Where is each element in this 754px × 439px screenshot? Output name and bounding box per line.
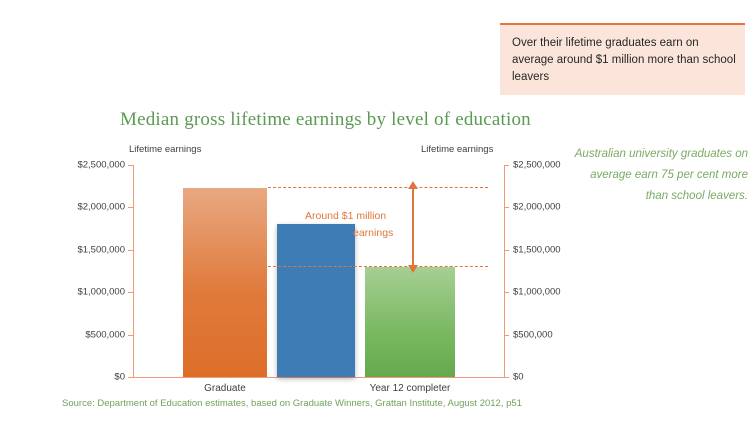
y-axis-label-right: $2,000,000 [513, 202, 561, 213]
right-axis-header: Lifetime earnings [421, 144, 493, 155]
y-axis-label-left: $2,000,000 [77, 202, 125, 213]
chart-plot-area: $0$0$500,000$500,000$1,000,000$1,000,000… [133, 165, 505, 378]
y-axis-label-right: $0 [513, 372, 524, 383]
y-axis-label-left: $500,000 [85, 329, 125, 340]
gap-dashed-line-top [268, 187, 488, 188]
source-note: Source: Department of Education estimate… [62, 398, 522, 409]
y-axis-label-left: $0 [114, 372, 125, 383]
x-label-graduate: Graduate [165, 383, 285, 394]
y-tick-l [128, 335, 133, 336]
bar-graduate [183, 188, 267, 377]
y-tick-r [504, 335, 509, 336]
y-axis-label-right: $2,500,000 [513, 160, 561, 171]
x-label-year-12-completer: Year 12 completer [350, 383, 470, 394]
callout-box: Over their lifetime graduates earn on av… [500, 23, 745, 95]
y-tick-r [504, 165, 509, 166]
y-axis-right [504, 165, 505, 378]
callout-text: Over their lifetime graduates earn on av… [512, 35, 737, 86]
gap-annotation-line-1: Around $1 million [305, 208, 425, 225]
gap-dashed-line-bottom [268, 266, 488, 267]
y-axis-label-left: $1,500,000 [77, 244, 125, 255]
gap-annotation-line-2: earnings [305, 225, 425, 242]
bar-middle [277, 224, 355, 377]
y-tick-r [504, 292, 509, 293]
y-tick-r [504, 377, 509, 378]
y-axis-label-left: $1,000,000 [77, 287, 125, 298]
gap-annotation: Around $1 million earnings [305, 208, 425, 242]
y-tick-l [128, 250, 133, 251]
page-title: Median gross lifetime earnings by level … [120, 109, 531, 131]
y-tick-l [128, 207, 133, 208]
y-tick-r [504, 250, 509, 251]
arrow-head-down-icon [408, 265, 418, 273]
y-tick-l [128, 165, 133, 166]
x-axis [133, 377, 505, 378]
side-note-text: Australian university graduates on avera… [572, 144, 748, 207]
y-axis-label-left: $2,500,000 [77, 160, 125, 171]
y-tick-r [504, 207, 509, 208]
bar-year-12-completer [365, 267, 455, 377]
y-tick-l [128, 292, 133, 293]
y-axis-label-right: $1,000,000 [513, 287, 561, 298]
left-axis-header: Lifetime earnings [129, 144, 201, 155]
y-axis-label-right: $500,000 [513, 329, 553, 340]
y-axis-left [133, 165, 134, 378]
arrow-head-up-icon [408, 181, 418, 189]
y-tick-l [128, 377, 133, 378]
y-axis-label-right: $1,500,000 [513, 244, 561, 255]
